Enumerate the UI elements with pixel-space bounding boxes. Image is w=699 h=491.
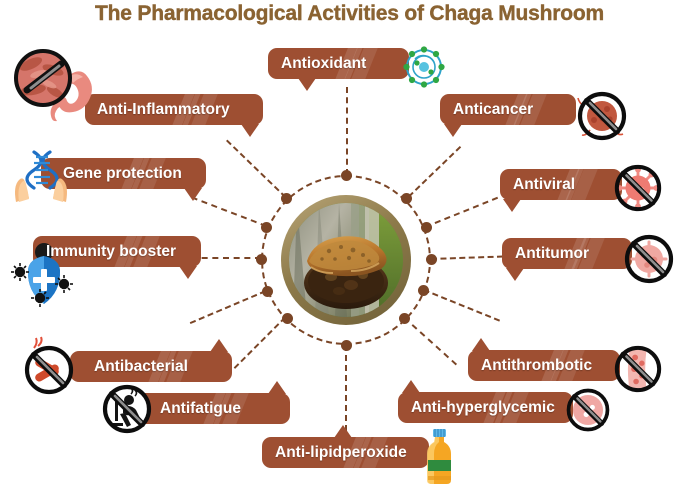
banner-tail bbox=[184, 188, 202, 201]
no-tumor-cell-icon bbox=[623, 233, 675, 290]
connector-antitumor bbox=[431, 255, 503, 260]
node-dot-gene-protection bbox=[261, 222, 272, 233]
label-text: Antitumor bbox=[502, 245, 602, 263]
label-text: Anti-Inflammatory bbox=[85, 101, 243, 119]
label-text: Antifatigue bbox=[122, 400, 254, 418]
node-dot-antibacterial bbox=[262, 286, 273, 297]
banner-tail bbox=[506, 268, 524, 281]
label-antiviral[interactable]: Antiviral bbox=[500, 169, 622, 200]
connector-antihyperglycemic bbox=[404, 317, 457, 365]
chaga-mushroom-photo bbox=[289, 203, 403, 317]
banner-tail bbox=[179, 266, 197, 279]
label-antioxidant[interactable]: Antioxidant bbox=[268, 48, 409, 79]
banner-tail bbox=[472, 338, 490, 351]
center-image-wrapper bbox=[276, 190, 416, 330]
node-dot-antilipidperoxide bbox=[341, 340, 352, 351]
infographic-canvas: The Pharmacological Activities of Chaga … bbox=[0, 0, 699, 489]
connector-immunity-booster bbox=[191, 257, 261, 259]
node-dot-antithrombotic bbox=[418, 285, 429, 296]
no-glucose-blood-icon bbox=[565, 387, 611, 438]
label-text: Antiviral bbox=[500, 176, 588, 194]
no-blood-clot-icon bbox=[613, 344, 663, 399]
banner-tail bbox=[298, 78, 316, 91]
node-dot-anti-inflammatory bbox=[281, 193, 292, 204]
label-anti-hyperglycemic[interactable]: Anti-hyperglycemic bbox=[398, 392, 573, 423]
label-text: Antibacterial bbox=[70, 358, 201, 376]
no-bacteria-icon bbox=[23, 340, 75, 401]
connector-anti-inflammatory bbox=[226, 140, 286, 198]
connector-anticancer bbox=[408, 146, 461, 197]
label-text: Anti-hyperglycemic bbox=[398, 399, 568, 417]
banner-tail bbox=[444, 124, 462, 137]
label-anti-lipidperoxide[interactable]: Anti-lipidperoxide bbox=[262, 437, 429, 468]
no-virus-icon bbox=[613, 163, 663, 218]
banner-tail bbox=[210, 339, 228, 352]
label-text: Anti-lipidperoxide bbox=[262, 444, 420, 462]
label-antitumor[interactable]: Antitumor bbox=[502, 238, 632, 269]
connector-antifatigue bbox=[234, 317, 286, 369]
label-text: Anticancer bbox=[440, 101, 546, 119]
connector-gene-protection bbox=[191, 196, 266, 227]
banner-tail bbox=[268, 381, 286, 394]
connector-antilipidperoxide bbox=[345, 345, 347, 431]
banner-tail bbox=[402, 380, 420, 393]
no-cancer-cell-icon bbox=[576, 90, 628, 147]
connector-antithrombotic bbox=[423, 289, 500, 322]
connector-antiviral bbox=[425, 197, 498, 228]
banner-tail bbox=[241, 124, 259, 137]
label-antithrombotic[interactable]: Antithrombotic bbox=[468, 350, 620, 381]
node-dot-anticancer bbox=[401, 193, 412, 204]
label-anticancer[interactable]: Anticancer bbox=[440, 94, 576, 125]
node-dot-antihyperglycemic bbox=[399, 313, 410, 324]
label-anti-inflammatory[interactable]: Anti-Inflammatory bbox=[85, 94, 263, 125]
inflamed-stomach-icon bbox=[11, 46, 111, 137]
banner-tail bbox=[503, 199, 521, 212]
node-dot-antitumor bbox=[426, 254, 437, 265]
page-title: The Pharmacological Activities of Chaga … bbox=[0, 2, 699, 26]
connector-antibacterial bbox=[190, 290, 266, 324]
node-dot-immunity-booster bbox=[256, 254, 267, 265]
atom-icon bbox=[401, 44, 447, 95]
label-text: Antithrombotic bbox=[468, 357, 605, 375]
label-text: Antioxidant bbox=[268, 55, 379, 73]
node-dot-antifatigue bbox=[282, 313, 293, 324]
label-antibacterial[interactable]: Antibacterial bbox=[70, 351, 232, 382]
node-dot-antioxidant bbox=[341, 170, 352, 181]
label-text: Immunity booster bbox=[33, 243, 189, 261]
node-dot-antiviral bbox=[421, 222, 432, 233]
label-text: Gene protection bbox=[41, 165, 195, 183]
oil-bottle-icon bbox=[422, 428, 456, 491]
banner-tail bbox=[334, 425, 352, 438]
connector-antioxidant bbox=[346, 87, 348, 175]
